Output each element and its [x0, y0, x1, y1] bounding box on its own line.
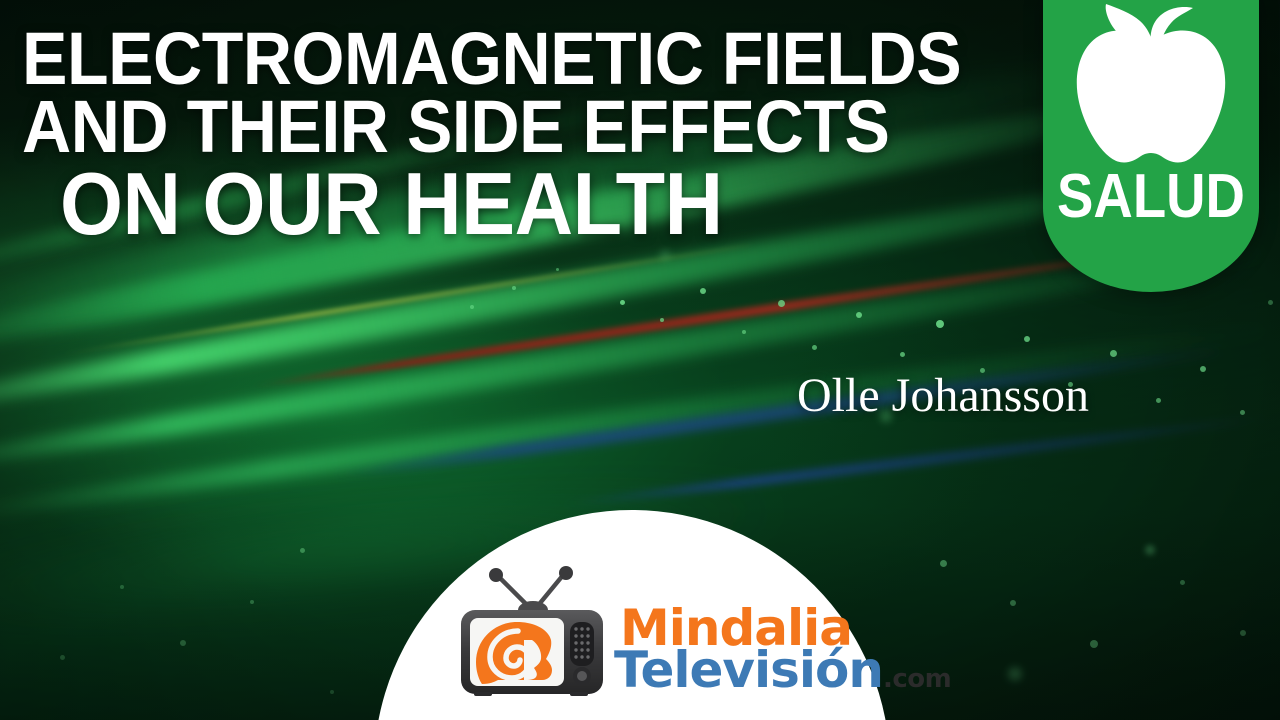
brand-television-line: Televisión.com	[614, 645, 951, 695]
retro-tv-icon	[458, 566, 606, 696]
video-thumbnail: ELECTROMAGNETIC FIELDS AND THEIR SIDE EF…	[0, 0, 1280, 720]
brand-television: Televisión	[614, 641, 883, 699]
brand-wordmark: Mindalia Televisión.com	[620, 603, 900, 703]
badge-label: SALUD	[1056, 166, 1246, 228]
apple-icon	[1043, 2, 1259, 172]
speaker-name: Olle Johansson	[797, 370, 1089, 422]
title-line-3: ON OUR HEALTH	[60, 160, 723, 248]
title-line-2: AND THEIR SIDE EFFECTS	[22, 90, 889, 164]
salud-badge: SALUD	[1043, 0, 1259, 292]
brand-tld: .com	[883, 664, 951, 694]
